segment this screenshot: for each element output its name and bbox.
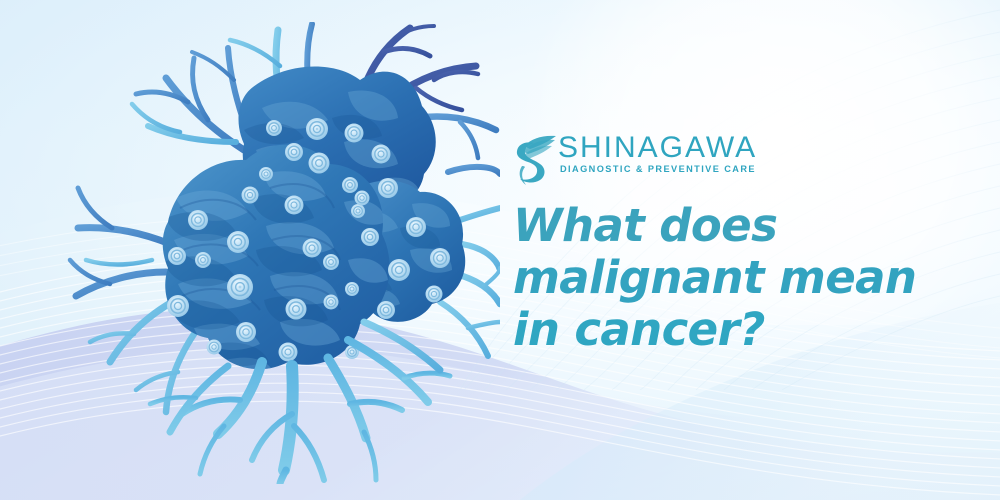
headline-line-2: malignant mean — [513, 252, 983, 304]
headline-line-3: in cancer? — [513, 304, 983, 356]
headline-line-1: What does — [513, 200, 983, 252]
logo-tagline: DIAGNOSTIC & PREVENTIVE CARE — [560, 163, 756, 175]
shinagawa-logo[interactable]: SHINAGAWA DIAGNOSTIC & PREVENTIVE CARE — [512, 128, 742, 190]
headline: What does malignant mean in cancer? — [513, 200, 983, 356]
shinagawa-wing-mark — [512, 130, 558, 186]
banner-root: SHINAGAWA DIAGNOSTIC & PREVENTIVE CARE W… — [0, 0, 1000, 500]
cancer-cell-illustration — [48, 22, 500, 484]
logo-wordmark: SHINAGAWA — [558, 132, 757, 164]
